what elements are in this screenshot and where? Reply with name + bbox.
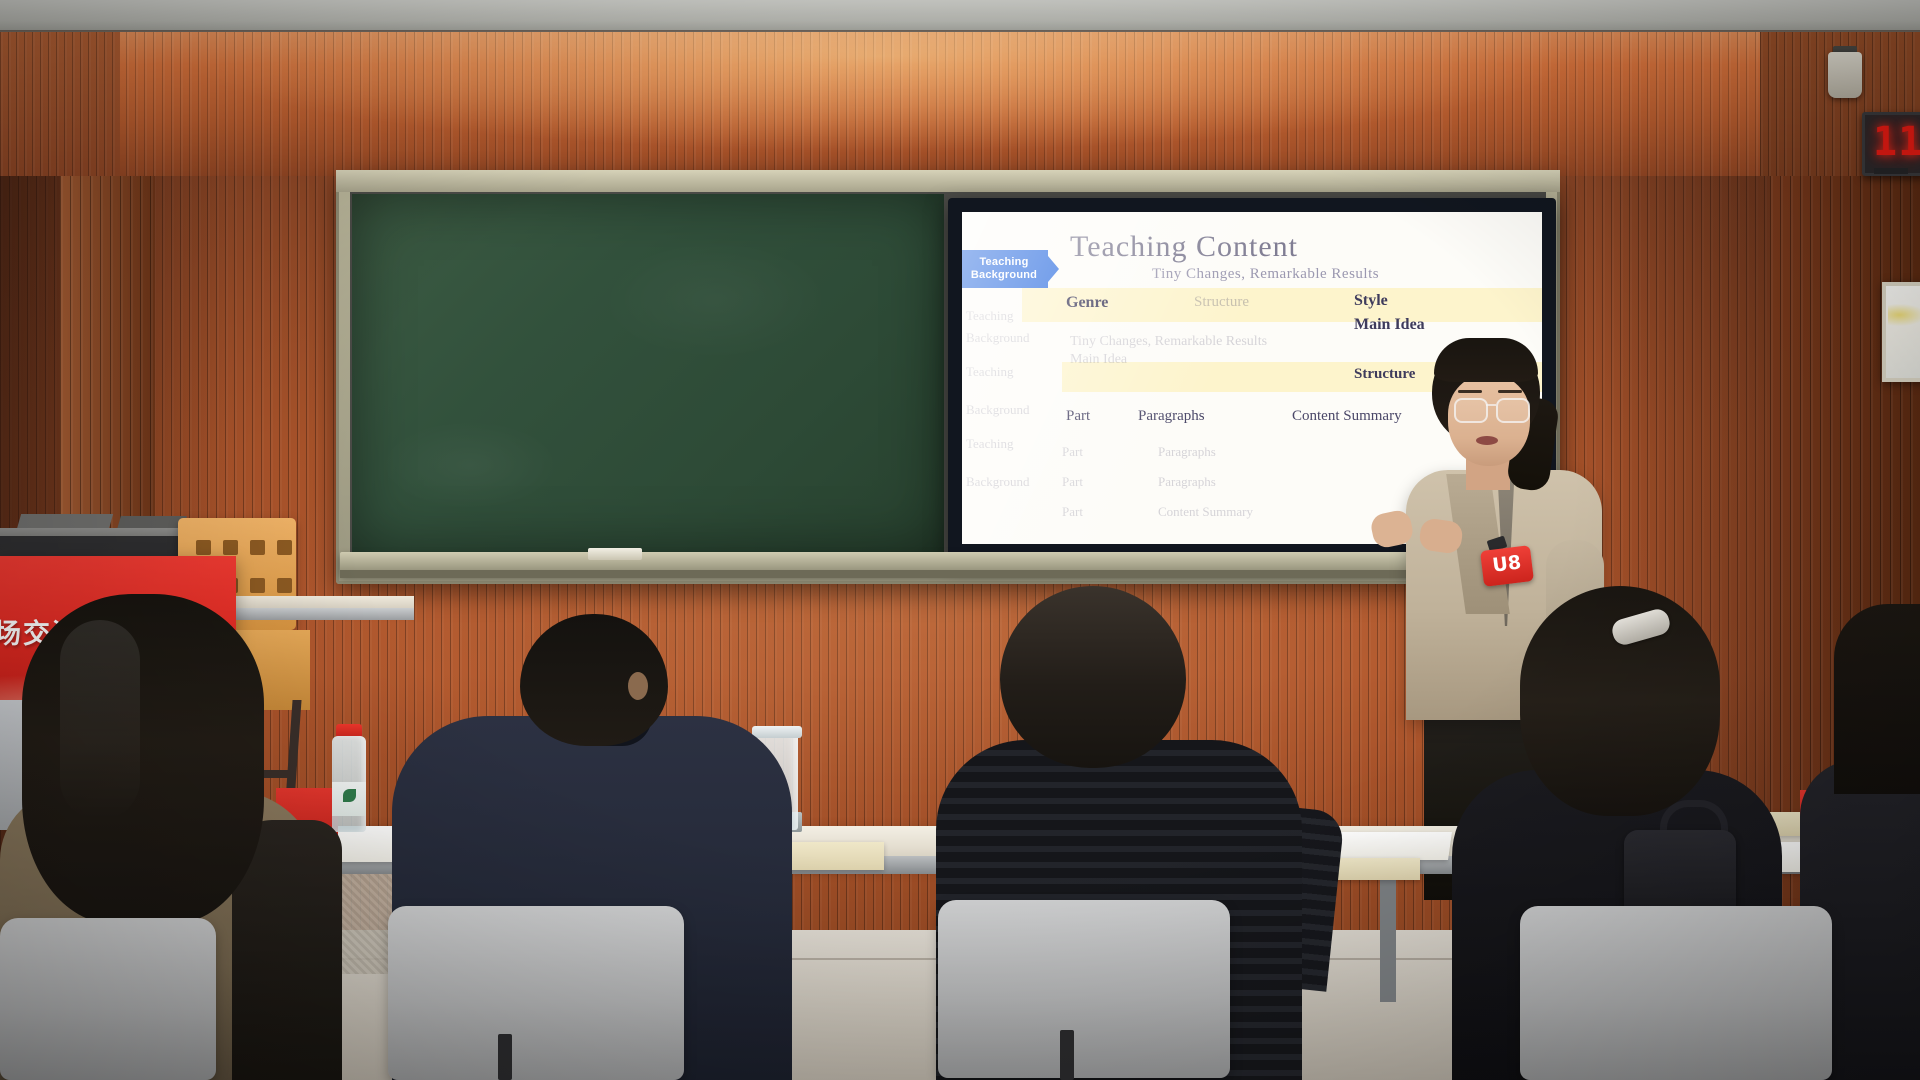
chalk-smudge: [600, 240, 830, 360]
chair-hole: [277, 540, 292, 555]
led-clock-value: 11: [1873, 119, 1920, 165]
eraser[interactable]: [588, 548, 642, 560]
slide-faded-row: Content Summary: [1158, 504, 1253, 520]
chair-back[interactable]: [938, 900, 1230, 1078]
slide-left-chip: Teaching: [966, 436, 1013, 452]
slide-header-style: Style: [1354, 292, 1388, 310]
slide-tab-line1: Teaching: [962, 256, 1048, 269]
presenter-fringe: [1434, 338, 1538, 382]
slide-header-structure-a: Structure: [1194, 294, 1249, 311]
paper-sheet: [1328, 832, 1452, 860]
slide-left-chip: Teaching: [966, 308, 1013, 324]
slide-row-label-part: Part: [1066, 408, 1090, 425]
attendee-hair: [1000, 586, 1186, 768]
table-leg: [1380, 872, 1396, 1002]
attendee-hair-sheen: [60, 620, 140, 820]
presenter-badge-label: U8: [1481, 550, 1533, 578]
glasses-lens-right-icon: [1496, 398, 1530, 423]
chair-hole: [223, 540, 238, 555]
wall-light-glow: [180, 32, 1580, 152]
chair-back[interactable]: [388, 906, 684, 1080]
slide-left-chip: Teaching: [966, 364, 1013, 380]
slide-faded-row: Paragraphs: [1158, 474, 1216, 490]
lecture-room-photo: 11 Teaching Content Tiny Changes, Remark…: [0, 0, 1920, 1080]
chair-hole: [250, 540, 265, 555]
led-clock-mount: [1874, 168, 1908, 174]
slide-row-label-content-summary: Content Summary: [1292, 408, 1402, 425]
slide-subtitle: Tiny Changes, Remarkable Results: [1152, 266, 1379, 283]
side-table-edge: [218, 608, 414, 620]
attendee-hair: [22, 594, 264, 924]
chair-back[interactable]: [0, 918, 216, 1080]
glasses-bridge-icon: [1486, 404, 1496, 406]
chair-hole: [196, 540, 211, 555]
slide-left-chip: Background: [966, 330, 1030, 346]
slide-faded-row: Part: [1062, 504, 1083, 520]
chair-back[interactable]: [1520, 906, 1832, 1080]
presenter-brow-left: [1458, 390, 1482, 393]
chalk-tray-edge: [340, 570, 1556, 578]
slide-header-genre: Genre: [1066, 294, 1108, 312]
chair-hole: [250, 578, 265, 593]
slide-faded-row: Part: [1062, 474, 1083, 490]
presenter-brow-right: [1498, 390, 1522, 393]
blackboard-top-rail: [336, 170, 1560, 192]
wall-lamp-icon: [1828, 52, 1862, 98]
slide-tab-line2: Background: [962, 269, 1048, 282]
attendee-ear: [628, 672, 648, 700]
glasses-lens-left-icon: [1454, 398, 1488, 423]
presenter-badge: U8: [1480, 545, 1534, 587]
slide-row-label-paragraphs: Paragraphs: [1138, 408, 1205, 425]
framed-picture: [1882, 282, 1920, 382]
pitcher-rim: [752, 726, 802, 738]
chair-hole: [277, 578, 292, 593]
led-clock-display: 11: [1862, 112, 1920, 176]
bottle-leaf-icon: [343, 789, 356, 802]
slide-left-chip: Background: [966, 474, 1030, 490]
chair-leg: [498, 1034, 512, 1080]
slide-left-chip: Background: [966, 402, 1030, 418]
slide-title: Teaching Content: [1070, 230, 1298, 264]
slide-tab-teaching-background[interactable]: Teaching Background: [962, 250, 1048, 288]
upper-wood-panel-left: [0, 32, 120, 182]
slide-body-line: Main Idea: [1070, 352, 1127, 368]
slide-header-structure-b: Structure: [1354, 366, 1415, 383]
slide-faded-row: Paragraphs: [1158, 444, 1216, 460]
ceiling: [0, 0, 1920, 34]
presenter-left-arm: [1400, 540, 1456, 730]
attendee-hair: [1834, 604, 1920, 794]
slide-faded-row: Part: [1062, 444, 1083, 460]
slide-tab-notch: [1048, 256, 1059, 282]
chair-leg: [1060, 1030, 1074, 1080]
presenter-mouth: [1476, 436, 1498, 445]
chalk-smudge: [380, 420, 560, 510]
slide-header-main-idea: Main Idea: [1354, 316, 1425, 334]
slide-body-line: Tiny Changes, Remarkable Results: [1070, 334, 1267, 350]
